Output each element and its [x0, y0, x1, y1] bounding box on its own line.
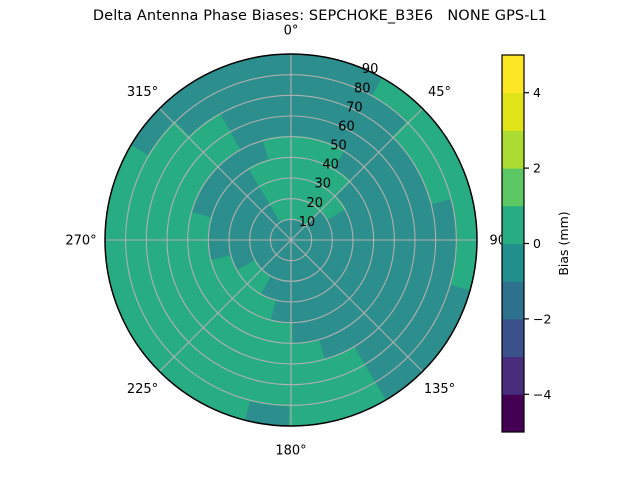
- colorbar-band: [502, 206, 524, 244]
- colorbar-tick-label: 2: [533, 161, 541, 176]
- colorbar-tick-label: 0: [533, 236, 541, 251]
- colorbar: −4−2024Bias (mm): [0, 0, 640, 480]
- colorbar-axis-label: Bias (mm): [556, 211, 571, 275]
- colorbar-band: [502, 55, 524, 93]
- colorbar-band: [502, 281, 524, 319]
- colorbar-band: [502, 168, 524, 206]
- colorbar-band: [502, 357, 524, 395]
- colorbar-tick-label: 4: [533, 85, 541, 100]
- colorbar-band: [502, 394, 524, 432]
- figure-canvas: Delta Antenna Phase Biases: SEPCHOKE_B3E…: [0, 0, 640, 480]
- colorbar-tick-label: −2: [533, 311, 551, 326]
- colorbar-band: [502, 244, 524, 282]
- colorbar-band: [502, 130, 524, 168]
- colorbar-tick-label: −4: [533, 387, 551, 402]
- colorbar-band: [502, 319, 524, 357]
- colorbar-band: [502, 93, 524, 131]
